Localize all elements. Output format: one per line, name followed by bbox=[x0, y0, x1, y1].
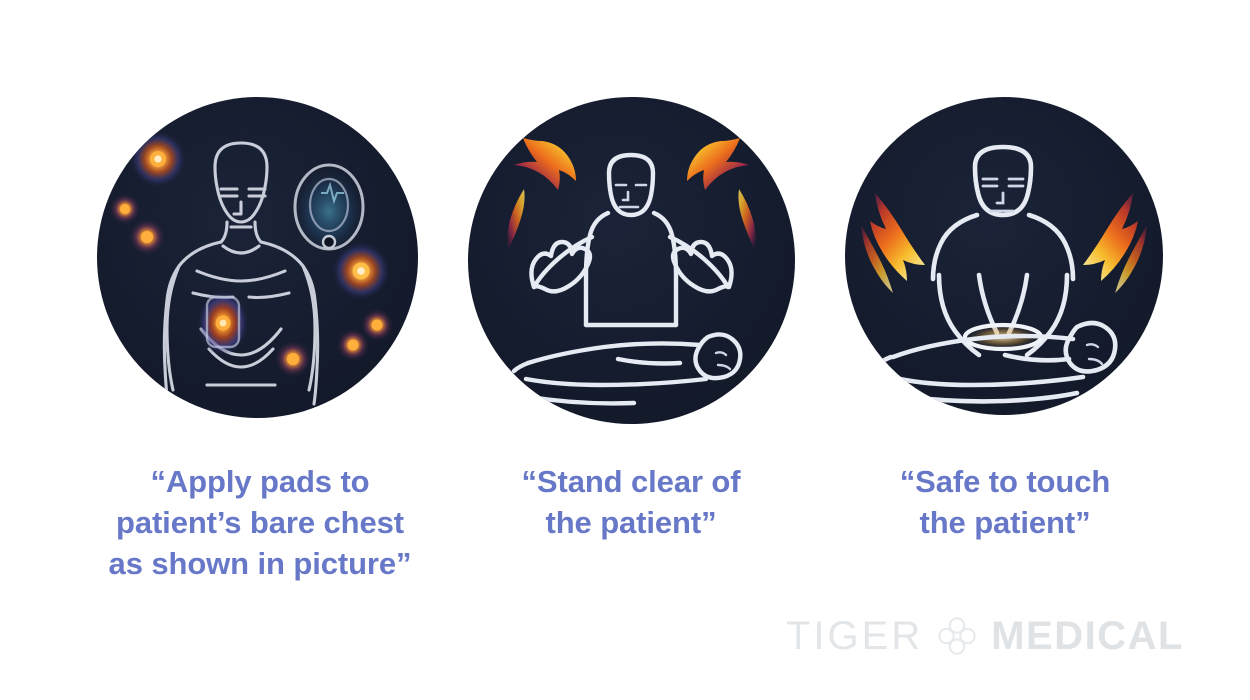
flame-arrow-right bbox=[687, 138, 756, 250]
watermark-tiger-text: TIGER bbox=[786, 614, 923, 659]
panel-stand-clear: “Stand clear of the patient” bbox=[455, 0, 807, 700]
caption-apply-pads: “Apply pads to patient’s bare chest as s… bbox=[60, 462, 460, 585]
panel-safe-to-touch: “Safe to touch the patient” bbox=[830, 0, 1180, 700]
stand-clear-of-patient-icon bbox=[468, 97, 795, 424]
apply-pads-to-bare-chest-icon bbox=[97, 97, 418, 418]
tiger-medical-watermark: TIGER MEDICAL bbox=[786, 608, 1186, 664]
flame-arrow-left bbox=[507, 138, 576, 250]
caption-safe-to-touch: “Safe to touch the patient” bbox=[830, 462, 1180, 544]
flame-arrow-left bbox=[861, 193, 925, 293]
caption-stand-clear: “Stand clear of the patient” bbox=[455, 462, 807, 544]
panel-apply-pads: “Apply pads to patient’s bare chest as s… bbox=[60, 0, 460, 700]
safe-to-touch-patient-icon bbox=[845, 97, 1163, 415]
watermark-medical-text: MEDICAL bbox=[991, 614, 1184, 659]
flame-arrow-right bbox=[1083, 193, 1147, 293]
illustration-page: “Apply pads to patient’s bare chest as s… bbox=[0, 0, 1250, 700]
quatrefoil-logo-icon bbox=[937, 616, 977, 656]
